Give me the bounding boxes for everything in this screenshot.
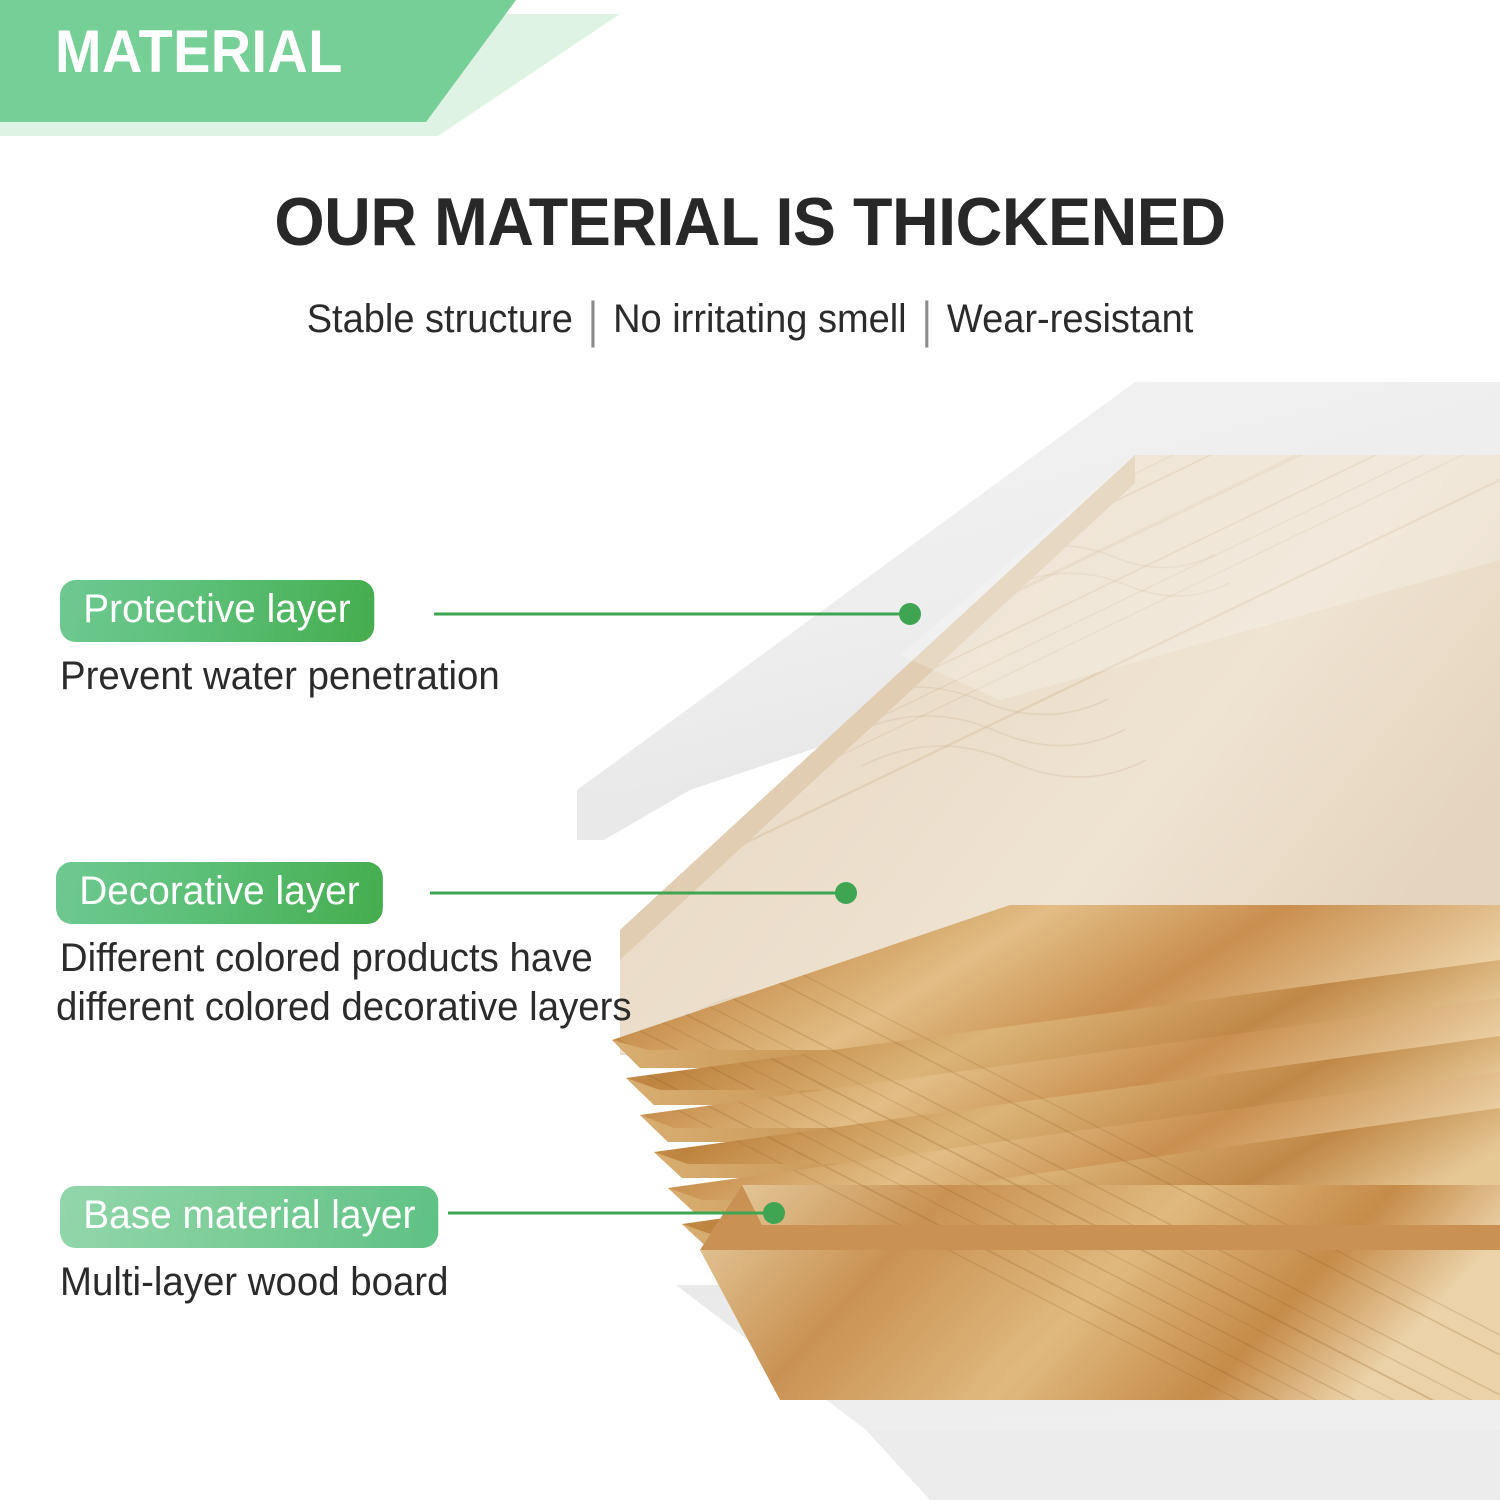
callout-pill-decorative-layer[interactable]: Decorative layer: [56, 862, 383, 924]
callout-pill-base-material-layer[interactable]: Base material layer: [60, 1186, 439, 1248]
leader-dot-base: [763, 1202, 785, 1224]
callout-description-decorative-layer-line2: different colored decorative layers: [56, 983, 632, 1032]
callout-description-protective-layer: Prevent water penetration: [60, 652, 500, 701]
callout-base-material-layer: Base material layer Multi-layer wood boa…: [60, 1186, 465, 1307]
callout-description-base-material-layer: Multi-layer wood board: [60, 1258, 448, 1307]
callout-pill-protective-layer[interactable]: Protective layer: [60, 580, 374, 642]
leader-dot-decorative: [835, 882, 857, 904]
callout-description-decorative-layer-line1: Different colored products have: [56, 934, 632, 983]
callout-decorative-layer: Decorative layer Different colored produ…: [56, 862, 656, 1031]
callout-protective-layer: Protective layer Prevent water penetrati…: [60, 580, 518, 701]
leader-dot-protective: [899, 603, 921, 625]
infographic-page: MATERIAL OUR MATERIAL IS THICKENED Stabl…: [0, 0, 1500, 1500]
